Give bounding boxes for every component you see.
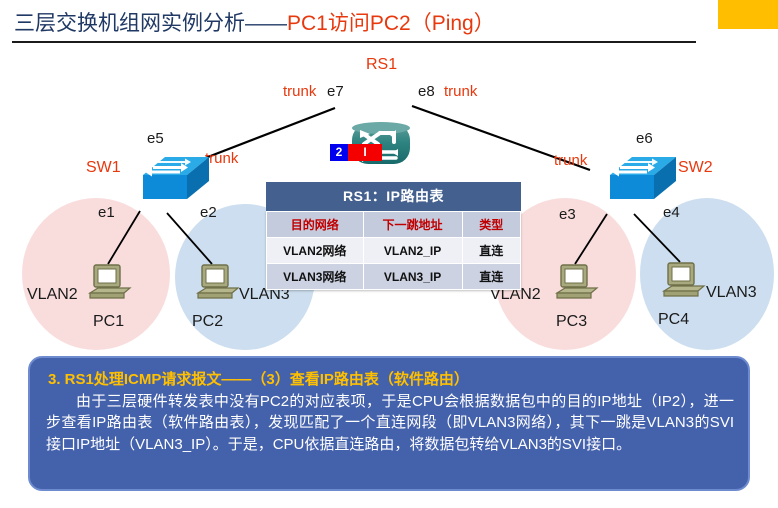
port-label-e5: e5: [147, 130, 164, 147]
note-body: 由于三层硬件转发表中没有PC2的对应表项，于是CPU会根据数据包中的目的IP地址…: [46, 391, 734, 455]
host-label-pc4: PC4: [658, 311, 689, 329]
cell-destination: VLAN3网络: [267, 264, 364, 290]
port-label-e3: e3: [559, 206, 576, 223]
host-label-pc1: PC1: [93, 313, 124, 331]
link-sw2-pc3: [575, 214, 607, 264]
host-label-pc3: PC3: [556, 313, 587, 331]
port-label-e2: e2: [200, 204, 217, 221]
cell-nexthop: VLAN2_IP: [363, 238, 462, 264]
orange-decoration-block: [718, 0, 778, 29]
router-label-rs1: RS1: [366, 56, 397, 74]
pc-icon-pc1: [86, 263, 132, 305]
port-label-e4: e4: [663, 204, 680, 221]
switch-icon-sw1: [125, 153, 211, 207]
port-label-e1: e1: [98, 204, 115, 221]
trunk-label-sw2: trunk: [554, 152, 587, 169]
routing-table-header-row: 目的网络 下一跳地址 类型: [267, 212, 521, 238]
pc-icon-pc4: [660, 261, 706, 303]
port-label-e7: e7: [327, 83, 344, 100]
routing-table-caption: RS1：IP路由表: [266, 182, 521, 211]
column-header-nexthop: 下一跳地址: [363, 212, 462, 238]
cell-nexthop: VLAN3_IP: [363, 264, 462, 290]
note-heading: 3. RS1处理ICMP请求报文——（3）查看IP路由表（软件路由）: [48, 368, 734, 389]
column-header-destination: 目的网络: [267, 212, 364, 238]
page-title-main: 三层交换机组网实例分析——: [14, 12, 287, 35]
network-topology-diagram: RS1 trunk e7 e8 trunk 2 I e5 trunk SW1: [0, 46, 778, 346]
pc-icon-pc3: [553, 263, 599, 305]
packet-type-icmp: I: [348, 144, 382, 161]
vlan-label-pc1: VLAN2: [27, 286, 78, 304]
page-title: 三层交换机组网实例分析——PC1访问PC2（Ping）: [14, 7, 495, 37]
slide-title-bar: 三层交换机组网实例分析——PC1访问PC2（Ping）: [0, 0, 778, 46]
table-row: VLAN2网络 VLAN2_IP 直连: [267, 238, 521, 264]
table-row: VLAN3网络 VLAN3_IP 直连: [267, 264, 521, 290]
packet-sequence-number: 2: [330, 144, 348, 161]
title-divider: [12, 41, 696, 43]
column-header-type: 类型: [462, 212, 520, 238]
trunk-label-left: trunk: [283, 83, 316, 100]
cell-destination: VLAN2网络: [267, 238, 364, 264]
pc-icon-pc2: [194, 263, 240, 305]
switch-icon-sw2: [592, 153, 678, 207]
trunk-label-right: trunk: [444, 83, 477, 100]
packet-indicator: 2 I: [330, 144, 382, 161]
explanation-note-box: 3. RS1处理ICMP请求报文——（3）查看IP路由表（软件路由） 由于三层硬…: [28, 356, 750, 491]
port-label-e8: e8: [418, 83, 435, 100]
vlan-label-pc4: VLAN3: [706, 284, 757, 302]
port-label-e6: e6: [636, 130, 653, 147]
switch-label-sw2: SW2: [678, 159, 713, 177]
page-title-accent: PC1访问PC2（Ping）: [287, 12, 495, 35]
host-label-pc2: PC2: [192, 313, 223, 331]
cell-type: 直连: [462, 264, 520, 290]
switch-label-sw1: SW1: [86, 159, 121, 177]
link-sw2-pc4: [634, 214, 680, 262]
cell-type: 直连: [462, 238, 520, 264]
ip-routing-table: RS1：IP路由表 目的网络 下一跳地址 类型 VLAN2网络 VLAN2_IP…: [266, 182, 521, 290]
